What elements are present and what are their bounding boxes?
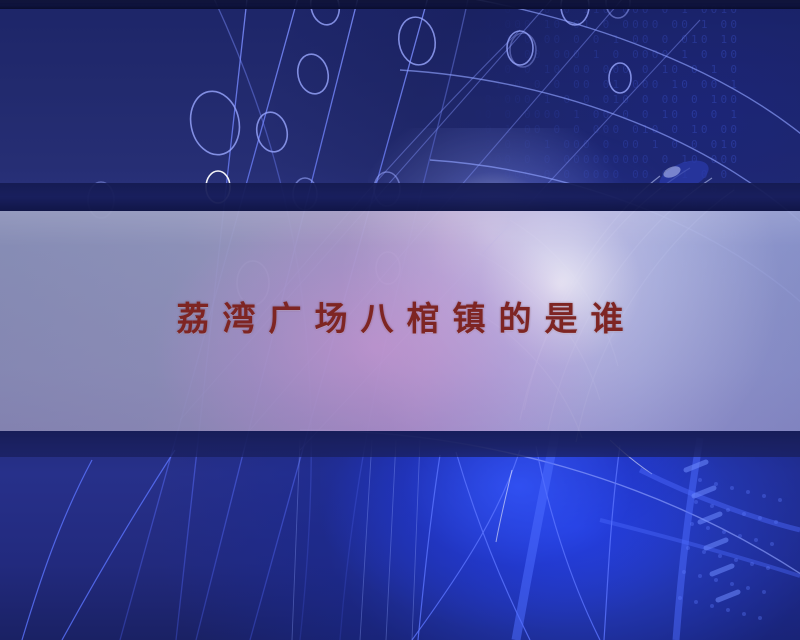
diagonal-connection-lines-secondary [180, 0, 700, 450]
binary-row: 0000 00100 00 000 1 0 0000 1 0 00 [416, 47, 800, 62]
binary-row: 0 10 0 0 000 1 0 0 010 0 00 0 100 [416, 92, 800, 107]
dot-matrix-pattern [678, 478, 782, 620]
circuit-ladder-bars [686, 462, 738, 600]
ellipse-node-outlines [88, 0, 631, 305]
binary-row: 0 00 000 0 1 0 00 0 0 0 1 00 0 10 [416, 272, 800, 287]
binary-row: 2000 000 0 0 10 0 00 0 000 10 0 1 [416, 182, 800, 197]
binary-row: 0 0000 0 1 00 0 0 000 010 0 10 00 [416, 122, 800, 137]
lower-filaments [292, 440, 420, 640]
binary-code-pattern: 0 1000 10 0 00000000 00 0 01 0 110100 01… [416, 0, 800, 307]
binary-row: 00 0000 1 0 0 0 00 01 000 10 00 1 [416, 77, 800, 92]
bottom-glow [320, 358, 800, 640]
binary-row: 0000000000 0 0 000000000 0 10 000 [416, 152, 800, 167]
sphere-core-glow [505, 154, 713, 329]
bottom-edge-strip [0, 0, 800, 9]
binary-row: 0 10 00 0 00 0 0 0 0 1 0 00 0 000 [416, 197, 800, 212]
upper-divider-band [0, 183, 800, 211]
binary-row: 0 000 0 00 0 0 1 0 000 0000 0 0 1 [416, 242, 800, 257]
binary-row: 0 1000 10 0 00000000 00 0 01 0 1 [416, 0, 800, 2]
bottom-curve-lines [22, 445, 620, 640]
banner-image: 0 1000 10 0 00000000 00 0 01 0 110100 01… [0, 0, 800, 640]
headline-container: 荔湾广场八棺镇的是谁 [0, 292, 800, 340]
binary-row: 10100 01 0 0 0 0 110 000 0 1 0010 [416, 2, 800, 17]
binary-row: 00 0 10 0 000 0 0 0 0010 0 0 0 00 [416, 257, 800, 272]
binary-row: 00 0 1 0 0 0 1 000 0 00 1 0 0 010 [416, 137, 800, 152]
binary-row: 1 0 00 0 0 10 000 0 0 0 0 00 0 10 [416, 227, 800, 242]
headline-band [0, 211, 800, 431]
binary-row: 1 0 0100 0 0 10 00 000 0 10 0 1 0 [416, 62, 800, 77]
tech-line-graphics [0, 0, 800, 640]
top-edge-strip [0, 0, 800, 3]
diagonal-connection-lines [120, 0, 470, 640]
curved-arc-lines [300, 0, 800, 580]
tech-sphere-arcs [452, 168, 734, 442]
binary-row: 0 0000 0 000 0 0 0000 00 0 1 0 0 [416, 167, 800, 182]
energy-beams [516, 430, 800, 640]
headline-band-shading [0, 211, 800, 431]
binary-row: 00000 00 00 1 00 00 0 0000 1 0 0 [416, 212, 800, 227]
lower-divider-band [0, 431, 800, 457]
binary-row: 00 1 000 1 0 00 0 0 1 00 0 010 10 [416, 32, 800, 47]
bottom-highlight-lines [496, 440, 652, 542]
background-gradient [0, 0, 800, 640]
page-title: 荔湾广场八棺镇的是谁 [164, 292, 637, 340]
binary-row: 0010 0 0 000 10 01 0 0000 00 1 00 [416, 17, 800, 32]
glowing-tech-sphere [368, 128, 736, 525]
binary-row: 001 0 00 0 0000 1 00 0 0 10 0 0 1 [416, 107, 800, 122]
